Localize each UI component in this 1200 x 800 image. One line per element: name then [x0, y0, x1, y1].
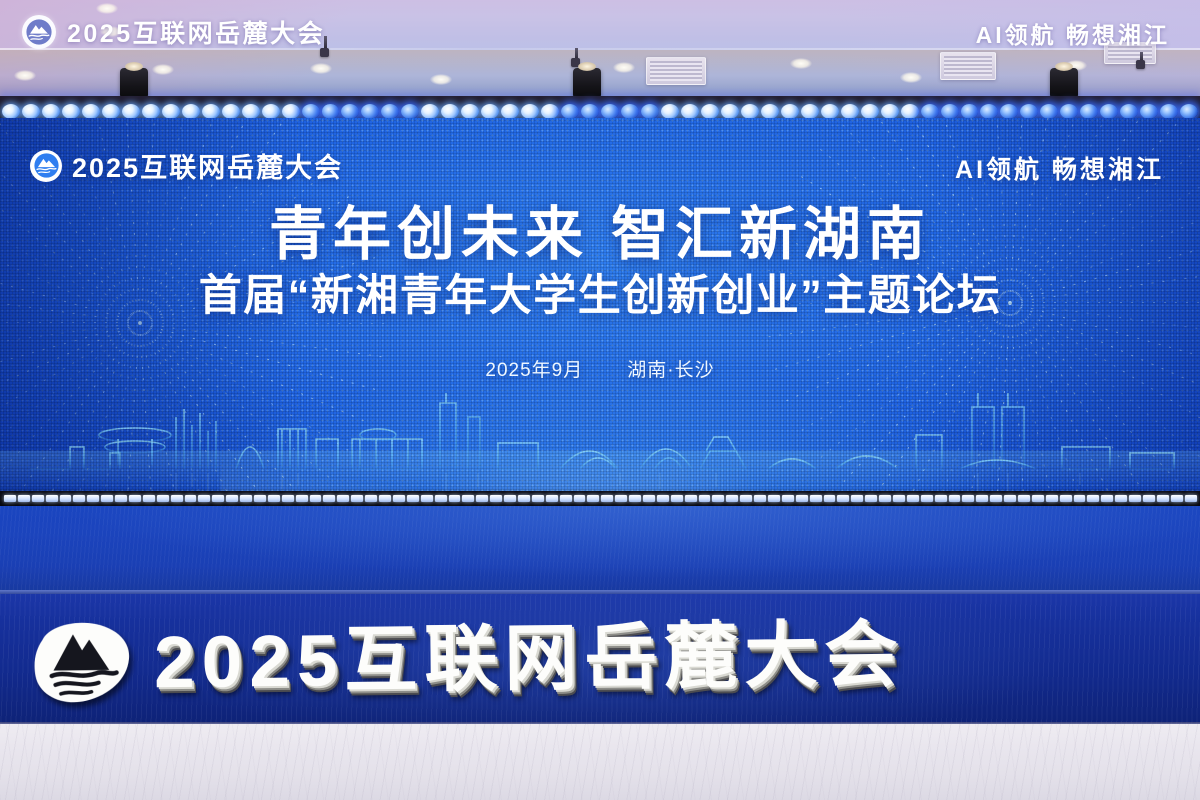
strip-led — [532, 495, 544, 502]
strip-led — [601, 495, 613, 502]
blinder-light — [581, 104, 599, 119]
blinder-light — [661, 104, 679, 119]
strip-led — [490, 495, 502, 502]
blinder-light — [341, 104, 359, 119]
strip-led — [435, 495, 447, 502]
strip-led — [865, 495, 877, 502]
ceiling-air-vent — [646, 57, 706, 85]
ceiling-downlight — [14, 70, 36, 81]
blinder-light — [421, 104, 439, 119]
blinder-light — [681, 104, 699, 119]
strip-led — [101, 495, 113, 502]
stage-signage-text: 2025互联网岳麓大会 — [154, 618, 905, 699]
screen-header-right: AI领航 畅想湘江 — [955, 150, 1164, 186]
strip-led — [337, 495, 349, 502]
strip-led — [296, 495, 308, 502]
ceiling-downlight — [152, 64, 174, 75]
blinder-light — [1080, 104, 1098, 119]
screen-title-block: 青年创未来 智汇新湖南 首届“新湘青年大学生创新创业”主题论坛 2025年9月 … — [0, 204, 1200, 382]
blinder-light — [262, 104, 280, 119]
blinder-light — [2, 104, 20, 119]
strip-led — [407, 495, 419, 502]
strip-led — [1087, 495, 1099, 502]
ceiling-banner-left-text: 2025互联网岳麓大会 — [67, 14, 325, 50]
ceiling-banner-left: 2025互联网岳麓大会 — [22, 14, 325, 50]
blinder-light — [322, 104, 340, 119]
blinder-light — [401, 104, 419, 119]
strip-led — [46, 495, 58, 502]
strip-led — [365, 495, 377, 502]
blinder-light — [242, 104, 260, 119]
strip-led — [810, 495, 822, 502]
strip-led — [837, 495, 849, 502]
strip-led — [879, 495, 891, 502]
sub-title: 首届“新湘青年大学生创新创业”主题论坛 — [199, 273, 1002, 320]
strip-led — [976, 495, 988, 502]
strip-led — [449, 495, 461, 502]
blinder-light — [961, 104, 979, 119]
strip-led — [60, 495, 72, 502]
strip-led — [351, 495, 363, 502]
strip-led — [782, 495, 794, 502]
strip-led — [310, 495, 322, 502]
strip-led — [643, 495, 655, 502]
strip-led — [1185, 495, 1197, 502]
strip-led — [1101, 495, 1113, 502]
blinder-light — [1120, 104, 1138, 119]
led-backdrop-screen: 2025互联网岳麓大会 AI领航 畅想湘江 青年创未来 智汇新湖南 首届“新湘青… — [0, 118, 1200, 493]
blinder-light — [541, 104, 559, 119]
blinder-light — [1000, 104, 1018, 119]
strip-led — [393, 495, 405, 502]
strip-led — [1171, 495, 1183, 502]
strip-led — [143, 495, 155, 502]
strip-led — [1018, 495, 1030, 502]
strip-led — [171, 495, 183, 502]
screen-base-led-strip — [0, 491, 1200, 506]
event-date: 2025年9月 — [485, 355, 583, 382]
strip-led — [1004, 495, 1016, 502]
strip-led — [893, 495, 905, 502]
blinder-light — [62, 104, 80, 119]
blinder-light — [701, 104, 719, 119]
strip-led — [671, 495, 683, 502]
mountain-river-logo-icon — [22, 15, 56, 49]
strip-led — [115, 495, 127, 502]
blinder-light — [821, 104, 839, 119]
strip-led — [421, 495, 433, 502]
blinder-light — [441, 104, 459, 119]
blinder-light — [1040, 104, 1058, 119]
blinder-light — [282, 104, 300, 119]
strip-led — [18, 495, 30, 502]
screen-header-left-text: 2025互联网岳麓大会 — [72, 146, 343, 185]
strip-led — [699, 495, 711, 502]
strip-led — [32, 495, 44, 502]
scene-root: 2025互联网岳麓大会 AI领航 畅想湘江 — [0, 0, 1200, 800]
strip-led — [935, 495, 947, 502]
strip-led — [1129, 495, 1141, 502]
strip-led — [754, 495, 766, 502]
strip-led — [268, 495, 280, 502]
ceiling-downlight — [613, 62, 635, 73]
strip-led — [657, 495, 669, 502]
strip-led — [990, 495, 1002, 502]
blinder-light — [641, 104, 659, 119]
blinder-light — [521, 104, 539, 119]
blinder-light — [302, 104, 320, 119]
strip-led — [1115, 495, 1127, 502]
event-location: 湖南·长沙 — [627, 355, 714, 382]
strip-led — [851, 495, 863, 502]
stage-signage: 2025互联网岳麓大会 — [30, 608, 905, 709]
blinder-light — [361, 104, 379, 119]
blinder-light — [721, 104, 739, 119]
strip-led — [768, 495, 780, 502]
strip-led — [73, 495, 85, 502]
strip-led — [87, 495, 99, 502]
ceiling-downlight — [790, 58, 812, 69]
blinder-light — [941, 104, 959, 119]
strip-led — [962, 495, 974, 502]
strip-led — [1074, 495, 1086, 502]
blinder-light — [22, 104, 40, 119]
strip-led — [323, 495, 335, 502]
strip-led — [726, 495, 738, 502]
strip-led — [1032, 495, 1044, 502]
strip-led — [282, 495, 294, 502]
blinder-light — [621, 104, 639, 119]
venue-floor — [0, 724, 1200, 800]
blinder-light — [1060, 104, 1078, 119]
blinder-light — [461, 104, 479, 119]
ceiling-downlight — [96, 3, 118, 14]
screen-header-left: 2025互联网岳麓大会 — [30, 146, 343, 185]
blinder-light — [102, 104, 120, 119]
strip-led — [740, 495, 752, 502]
strip-led — [1046, 495, 1058, 502]
strip-led — [1143, 495, 1155, 502]
strip-led — [462, 495, 474, 502]
blinder-light — [561, 104, 579, 119]
blinder-light — [1100, 104, 1118, 119]
stage-carpet-top — [0, 506, 1200, 592]
blinder-light — [501, 104, 519, 119]
blinder-light — [202, 104, 220, 119]
strip-led — [1060, 495, 1072, 502]
blinder-light — [82, 104, 100, 119]
strip-led — [685, 495, 697, 502]
strip-led — [504, 495, 516, 502]
strip-led — [796, 495, 808, 502]
strip-led — [1157, 495, 1169, 502]
strip-led — [129, 495, 141, 502]
ceiling-downlight — [900, 72, 922, 83]
strip-led — [157, 495, 169, 502]
screen-header-right-text: AI领航 畅想湘江 — [955, 156, 1164, 184]
strip-led — [198, 495, 210, 502]
blinder-light — [921, 104, 939, 119]
strip-led — [949, 495, 961, 502]
strip-led — [240, 495, 252, 502]
blinder-light — [1160, 104, 1178, 119]
moving-head-spotlight — [120, 68, 148, 98]
strip-led — [629, 495, 641, 502]
blinder-light — [801, 104, 819, 119]
ceiling-rig-fixture — [1136, 60, 1145, 69]
blinder-light — [761, 104, 779, 119]
event-meta-row: 2025年9月 湖南·长沙 — [485, 355, 714, 382]
blinder-light — [841, 104, 859, 119]
blinder-light — [122, 104, 140, 119]
strip-led — [574, 495, 586, 502]
skyline-reflection — [0, 451, 1200, 493]
strip-led — [185, 495, 197, 502]
strip-led — [560, 495, 572, 502]
main-title: 青年创未来 智汇新湖南 — [269, 204, 931, 265]
ceiling-downlight — [310, 63, 332, 74]
strip-led — [212, 495, 224, 502]
strip-led — [907, 495, 919, 502]
blinder-light — [781, 104, 799, 119]
blinder-light — [1140, 104, 1158, 119]
strip-led — [226, 495, 238, 502]
blinder-light — [601, 104, 619, 119]
strip-led — [379, 495, 391, 502]
strip-led — [254, 495, 266, 502]
mountain-river-logo-icon — [30, 150, 62, 182]
moving-head-spotlight — [573, 68, 601, 98]
blinder-light — [1020, 104, 1038, 119]
strip-led — [518, 495, 530, 502]
ceiling-air-vent — [940, 52, 996, 80]
blinder-light — [182, 104, 200, 119]
ceiling-banner-right: AI领航 畅想湘江 — [976, 16, 1170, 50]
blinder-light — [861, 104, 879, 119]
blinder-light — [42, 104, 60, 119]
strip-led — [4, 495, 16, 502]
blinder-light — [222, 104, 240, 119]
blinder-light — [741, 104, 759, 119]
strip-led — [921, 495, 933, 502]
strip-led — [824, 495, 836, 502]
blinder-light — [381, 104, 399, 119]
blinder-light — [162, 104, 180, 119]
ceiling-banner-right-text: AI领航 畅想湘江 — [976, 22, 1170, 48]
blinder-light — [1180, 104, 1198, 119]
blinder-light — [881, 104, 899, 119]
mountain-river-logo-icon — [30, 616, 139, 709]
blinder-light — [481, 104, 499, 119]
strip-led — [615, 495, 627, 502]
blinder-light — [980, 104, 998, 119]
ceiling-downlight — [430, 74, 452, 85]
blinder-light — [142, 104, 160, 119]
strip-led — [476, 495, 488, 502]
blinder-light — [901, 104, 919, 119]
strip-led — [587, 495, 599, 502]
strip-led — [546, 495, 558, 502]
moving-head-spotlight — [1050, 68, 1078, 98]
strip-led — [712, 495, 724, 502]
